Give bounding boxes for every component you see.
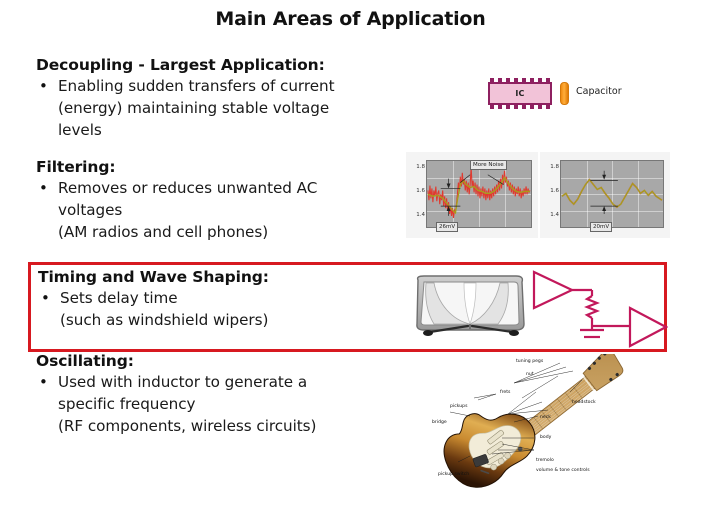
guitar-label-neck: neck	[540, 415, 551, 421]
guitar-label-headstock: headstock	[572, 400, 596, 406]
scope-amplitude-caption: 26mV	[436, 222, 458, 232]
page-title: Main Areas of Application	[0, 8, 701, 30]
bullet-text-filtering: Removes or reduces unwanted AC voltages …	[58, 177, 317, 243]
section-timing: Timing and Wave Shaping: • Sets delay ti…	[38, 268, 408, 331]
scope-traces	[427, 161, 531, 228]
section-oscillating: Oscillating: • Used with inductor to gen…	[36, 352, 416, 437]
bullet-line: levels	[58, 119, 335, 141]
windshield-wipers-figure	[412, 272, 528, 344]
guitar-label-tuning-pegs: tuning pegs	[516, 359, 543, 365]
electric-guitar-figure: tuning pegs nut frets headstock pickups …	[430, 354, 665, 504]
bullet-line: Removes or reduces unwanted AC	[58, 177, 317, 199]
section-heading-timing: Timing and Wave Shaping:	[38, 268, 408, 286]
guitar-label-tremolo: tremolo	[536, 458, 554, 464]
scope-noise-caption: More Noise	[470, 160, 507, 170]
section-heading-oscillating: Oscillating:	[36, 352, 416, 370]
bullet-line: (energy) maintaining stable voltage	[58, 97, 335, 119]
oscilloscope-filtered-figure: 1.8 1.6 1.4	[540, 152, 670, 238]
bullet-marker: •	[36, 177, 58, 199]
ic-chip-icon: IC	[488, 82, 552, 105]
scope-plot-area	[426, 160, 532, 228]
section-heading-decoupling: Decoupling - Largest Application:	[36, 56, 416, 74]
scope-ytick: 1.8	[407, 164, 425, 170]
scope-traces	[561, 161, 663, 228]
bullet-line: (AM radios and cell phones)	[58, 221, 317, 243]
guitar-label-nut: nut	[526, 372, 534, 378]
scope-ytick: 1.4	[541, 212, 559, 218]
section-decoupling: Decoupling - Largest Application: • Enab…	[36, 56, 416, 141]
bullet-line: (such as windshield wipers)	[60, 309, 268, 331]
ic-pins-bottom-icon	[488, 105, 552, 109]
section-filtering: Filtering: • Removes or reduces unwanted…	[36, 158, 416, 243]
ic-chip-label: IC	[515, 89, 524, 98]
capacitor-label: Capacitor	[576, 86, 622, 97]
guitar-label-bridge: bridge	[432, 420, 447, 426]
scope-plot-area	[560, 160, 664, 228]
bullet-text-decoupling: Enabling sudden transfers of current (en…	[58, 75, 335, 141]
oscilloscope-noisy-figure: 1.8 1.6 1.4	[406, 152, 538, 238]
bullet-oscillating: • Used with inductor to generate a speci…	[36, 371, 416, 437]
bullet-line: Used with inductor to generate a	[58, 371, 316, 393]
bullet-line: voltages	[58, 199, 317, 221]
bullet-line: (RF components, wireless circuits)	[58, 415, 316, 437]
slide-canvas: Main Areas of Application Decoupling - L…	[0, 0, 701, 509]
guitar-label-pickup-switch: pickup switch	[438, 472, 469, 478]
scope-ytick: 1.8	[541, 164, 559, 170]
capacitor-icon	[560, 82, 569, 105]
bullet-text-timing: Sets delay time (such as windshield wipe…	[60, 287, 268, 331]
bullet-marker: •	[36, 371, 58, 393]
bullet-marker: •	[36, 75, 58, 97]
rc-delay-circuit-figure	[530, 268, 668, 350]
bullet-line: specific frequency	[58, 393, 316, 415]
guitar-label-frets: frets	[500, 390, 510, 396]
bullet-line: Enabling sudden transfers of current	[58, 75, 335, 97]
scope-ytick: 1.4	[407, 212, 425, 218]
bullet-line: Sets delay time	[60, 287, 268, 309]
bullet-filtering: • Removes or reduces unwanted AC voltage…	[36, 177, 416, 243]
bullet-text-oscillating: Used with inductor to generate a specifi…	[58, 371, 316, 437]
bullet-marker: •	[38, 287, 60, 309]
ic-capacitor-figure: IC Capacitor	[488, 78, 648, 110]
guitar-label-pickups: pickups	[450, 404, 467, 410]
bullet-timing: • Sets delay time (such as windshield wi…	[38, 287, 408, 331]
scope-ytick: 1.6	[541, 188, 559, 194]
section-heading-filtering: Filtering:	[36, 158, 416, 176]
bullet-decoupling: • Enabling sudden transfers of current (…	[36, 75, 416, 141]
scope-amplitude-caption: 20mV	[590, 222, 612, 232]
guitar-label-body: body	[540, 435, 551, 441]
guitar-label-volume-tone: volume & tone controls	[536, 468, 590, 474]
scope-ytick: 1.6	[407, 188, 425, 194]
